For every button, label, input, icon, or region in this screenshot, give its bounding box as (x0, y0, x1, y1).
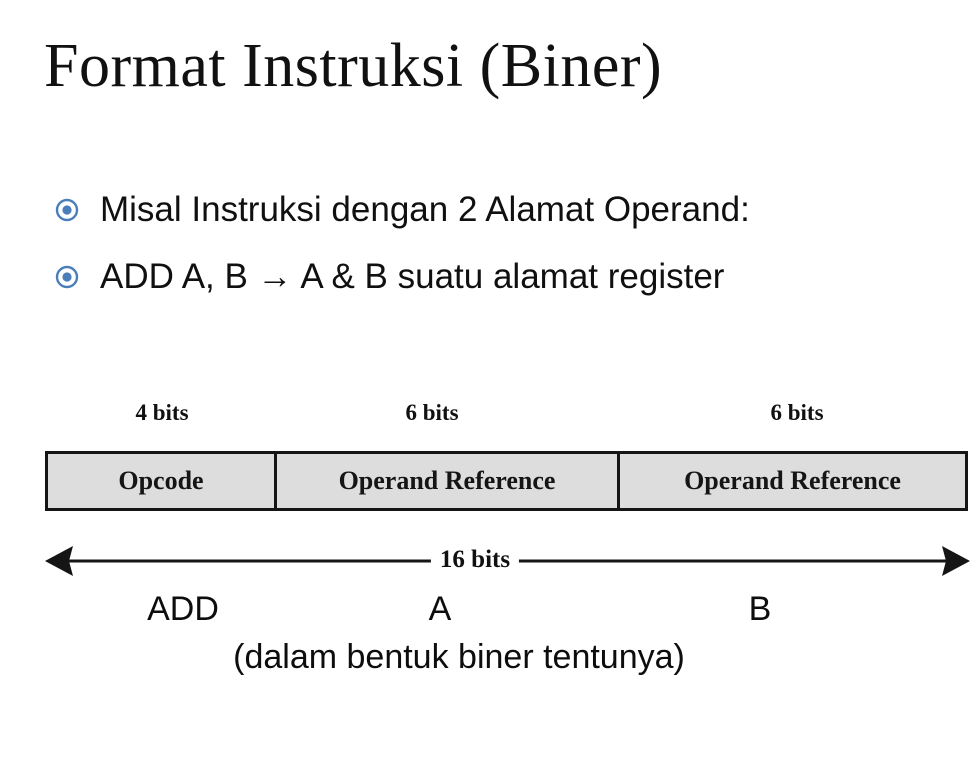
bullet-list: Misal Instruksi dengan 2 Alamat Operand:… (52, 184, 952, 318)
slide-title: Format Instruksi (Biner) (44, 34, 662, 99)
instruction-field-row: Opcode Operand Reference Operand Referen… (45, 451, 968, 511)
figure-caption: (dalam bentuk biner tentunya) (233, 638, 685, 677)
total-width-label: 16 bits (431, 546, 519, 574)
bullet-item-label: ADD A, B → A & B suatu alamat register (100, 258, 724, 297)
bullet-item: ADD A, B → A & B suatu alamat register (52, 251, 952, 303)
bullet-item: Misal Instruksi dengan 2 Alamat Operand: (52, 184, 952, 236)
radio-bullet-icon (52, 195, 82, 225)
instruction-format-figure: 4 bits 6 bits 6 bits Opcode Operand Refe… (0, 0, 975, 763)
bit-width-label-opcode: 4 bits (135, 400, 188, 426)
field-operand-reference-2: Operand Reference (620, 454, 965, 508)
bit-width-label-operand1: 6 bits (405, 400, 458, 426)
operand-value-opcode: ADD (147, 590, 219, 629)
operand-value-a: A (429, 590, 452, 629)
radio-bullet-icon (52, 262, 82, 292)
bullet-item-label: Misal Instruksi dengan 2 Alamat Operand: (100, 191, 750, 230)
field-opcode: Opcode (48, 454, 277, 508)
operand-value-b: B (749, 590, 772, 629)
bit-width-label-operand2: 6 bits (770, 400, 823, 426)
field-operand-reference-1: Operand Reference (277, 454, 620, 508)
